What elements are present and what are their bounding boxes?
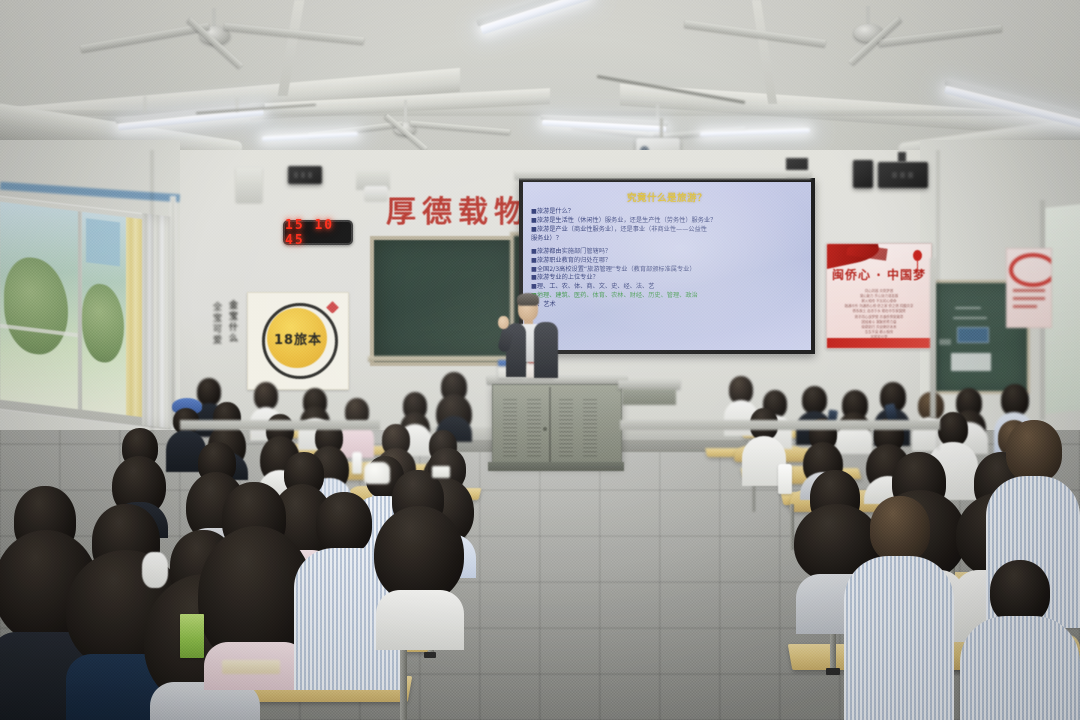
wall-handwriting: 全宝可爱	[210, 302, 223, 382]
wall-speaker	[288, 166, 322, 184]
wall-corner	[936, 150, 940, 450]
slide-title: 究竟什么是旅游？	[523, 190, 811, 204]
lecturer-jacket	[534, 322, 558, 378]
desk-foot	[424, 652, 436, 658]
slide-bullet: 服务业）？	[531, 235, 805, 244]
water-bottle	[778, 464, 792, 494]
lecturer	[496, 288, 568, 380]
clock-digits: 15 10 45	[285, 218, 351, 248]
digital-clock: 15 10 45	[283, 220, 353, 245]
ceiling-fan	[770, 6, 990, 68]
glasses-icon	[519, 305, 537, 310]
slide-bullet: ■旅游都由实施部门管辖吗？	[531, 248, 805, 257]
slide-bullet: ■旅游职业教育的归处在哪？	[531, 257, 805, 266]
poster-ribbon	[827, 338, 931, 348]
ceiling-fan	[160, 8, 360, 68]
wall-camera	[364, 186, 388, 202]
light-hanger	[144, 96, 146, 112]
window-frame	[0, 195, 172, 431]
speaker-bracket	[898, 152, 906, 162]
classroom-photo: 厚德载物 15 10 45 18旅本 金宝什么 全宝可爱 闽侨心 · 中国梦 同…	[0, 0, 1080, 720]
lecturer-hair	[517, 293, 539, 305]
podium-wing	[618, 380, 680, 389]
slide-bullet: ■全国2/3高校设置“旅游管理”专业（教育部颁标准属专业）	[531, 266, 805, 275]
tissue-pack	[432, 466, 450, 478]
slide-bullet: 法、艺术	[531, 301, 805, 310]
baseboard	[180, 420, 380, 430]
balloon-icon	[913, 250, 922, 261]
ceiling-fan	[358, 100, 508, 150]
window-mullion	[170, 196, 176, 426]
wall-handwriting: 金宝什么	[226, 300, 239, 384]
projector-mount	[660, 118, 663, 140]
wall-speaker	[853, 160, 873, 188]
wall-panel	[236, 168, 262, 202]
white-bag	[364, 462, 390, 484]
red-poster-body: 同心同德 共筑梦想 凝心聚力 齐心协力谋发展 薪火相传 不忘初心使命 融通中外 …	[827, 289, 931, 340]
lecturer-hand	[498, 316, 509, 329]
heart-icon	[326, 301, 339, 314]
podium-wing-face	[622, 389, 676, 405]
slide-bullet: ■旅游是产业（商业性服务业），还是事业（非商业性——公益性	[531, 226, 805, 235]
water-bottle	[352, 452, 362, 474]
red-poster: 闽侨心 · 中国梦 同心同德 共筑梦想 凝心聚力 齐心协力谋发展 薪火相传 不忘…	[826, 243, 932, 349]
milk-carton	[180, 614, 204, 658]
slide-bullet: ■理、工、农、体、商、文、史、经、法、艺	[531, 283, 805, 292]
slide-bullet: ■旅游专业的上位专业？	[531, 274, 805, 283]
wall-speaker	[878, 162, 928, 188]
desk-leg	[400, 646, 407, 720]
cabinet-lock	[543, 427, 547, 431]
cabinet-seam	[549, 387, 551, 463]
podium-cabinet	[492, 384, 622, 466]
screen-roller	[515, 170, 811, 179]
student	[372, 470, 468, 650]
wall-corner	[150, 150, 154, 450]
podium-base	[488, 462, 624, 471]
desk-foot	[826, 668, 840, 675]
notebook	[222, 660, 280, 674]
slide-bullet: ■旅游是什么？	[531, 208, 805, 217]
student	[960, 560, 1080, 720]
baseboard	[620, 420, 940, 430]
slide-bullet: ■旅游是生活性（休闲性）服务业，还是生产性（劳务性）服务业？	[531, 217, 805, 226]
red-banner-fragment	[1006, 248, 1052, 328]
student	[844, 496, 954, 720]
balloon-string	[917, 261, 918, 271]
slide-bullet-highlight: ■地理、建筑、医药、体育、农林、财经、历史、管理、政治	[531, 292, 805, 301]
class-poster: 18旅本	[247, 292, 349, 390]
red-poster-title: 闽侨心 · 中国梦	[827, 266, 931, 283]
class-poster-text: 18旅本	[248, 329, 348, 348]
